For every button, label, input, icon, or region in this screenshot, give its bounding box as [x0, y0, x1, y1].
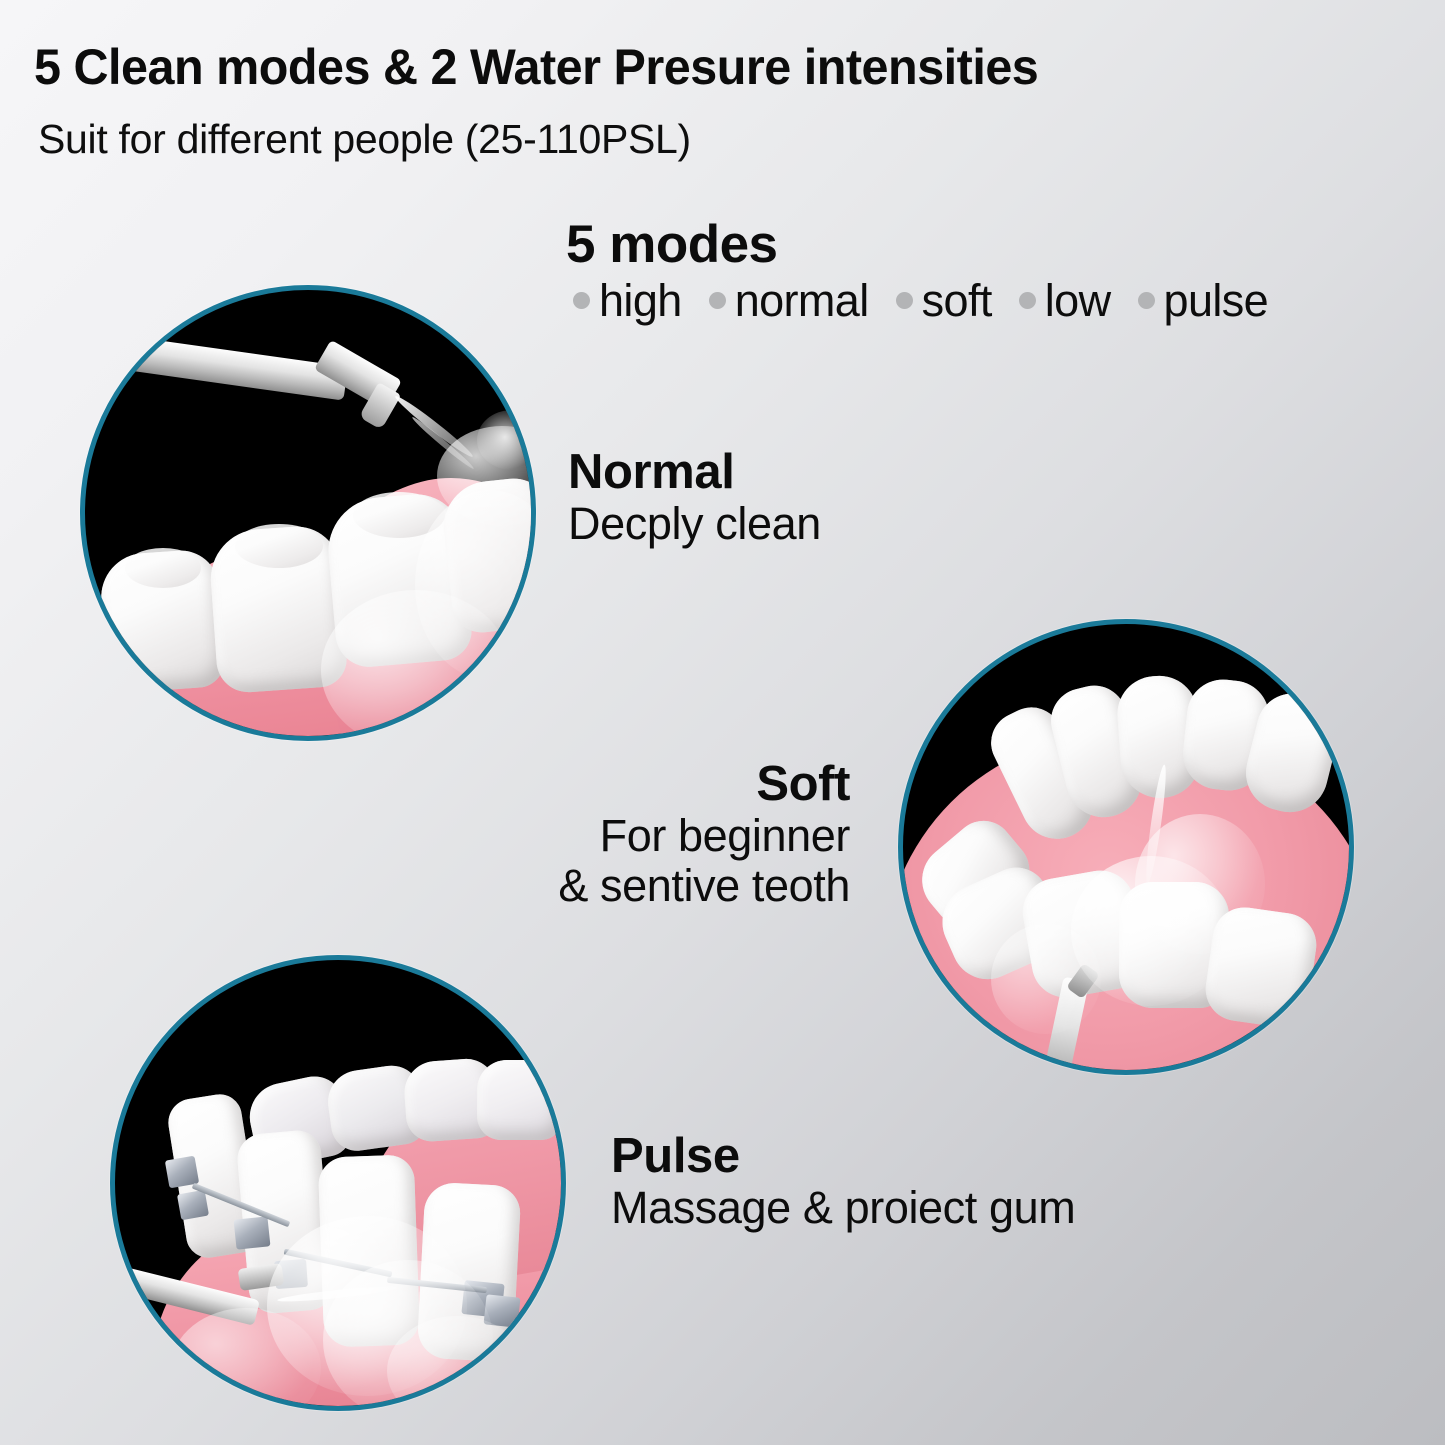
mode-item-low: low	[1019, 278, 1111, 323]
dental-scene-normal	[85, 290, 531, 736]
mode-item-normal: normal	[709, 278, 869, 323]
feature-title: Soft	[404, 758, 850, 811]
mode-label: pulse	[1164, 278, 1269, 323]
feature-description-line-2: & sentive teoth	[404, 861, 850, 911]
bullet-dot-icon	[896, 292, 913, 309]
molar-tooth	[477, 1060, 563, 1140]
feature-caption-pulse: Pulse Massage & proiect gum	[611, 1130, 1075, 1233]
infographic-canvas: 5 Clean modes & 2 Water Presure intensit…	[0, 0, 1445, 1445]
page-subtitle: Suit for different people (25-110PSL)	[38, 116, 691, 163]
feature-description: Decply clean	[568, 499, 821, 549]
feature-caption-normal: Normal Decply clean	[568, 446, 821, 549]
feature-caption-soft: Soft For beginner & sentive teoth	[404, 758, 850, 912]
modes-heading: 5 modes	[566, 214, 778, 275]
feature-description: Massage & proiect gum	[611, 1183, 1075, 1233]
mode-label: normal	[735, 278, 869, 323]
water-spray	[321, 590, 511, 741]
mode-label: low	[1045, 278, 1111, 323]
mode-item-pulse: pulse	[1138, 278, 1269, 323]
bullet-dot-icon	[573, 292, 590, 309]
water-droplets	[991, 924, 1101, 1034]
feature-image-normal	[80, 285, 536, 741]
bullet-dot-icon	[709, 292, 726, 309]
mode-label: high	[599, 278, 682, 323]
bullet-dot-icon	[1019, 292, 1036, 309]
feature-image-soft	[898, 619, 1354, 1075]
mode-item-soft: soft	[896, 278, 992, 323]
feature-description-line-1: For beginner	[404, 811, 850, 861]
tooth-cusp-highlight	[125, 548, 201, 588]
orthodontic-bracket	[177, 1190, 209, 1220]
mode-item-high: high	[573, 278, 682, 323]
feature-title: Normal	[568, 446, 821, 499]
feature-title: Pulse	[611, 1130, 1075, 1183]
flosser-nozzle-shaft	[80, 329, 348, 400]
bullet-dot-icon	[1138, 292, 1155, 309]
feature-image-pulse	[110, 955, 566, 1411]
mode-label: soft	[922, 278, 992, 323]
orthodontic-bracket	[234, 1216, 271, 1249]
tooth-cusp-highlight	[235, 524, 323, 568]
dental-scene-pulse	[115, 960, 561, 1406]
dental-scene-soft	[903, 624, 1349, 1070]
page-title: 5 Clean modes & 2 Water Presure intensit…	[34, 38, 1038, 96]
modes-list: high normal soft low pulse	[573, 278, 1268, 323]
